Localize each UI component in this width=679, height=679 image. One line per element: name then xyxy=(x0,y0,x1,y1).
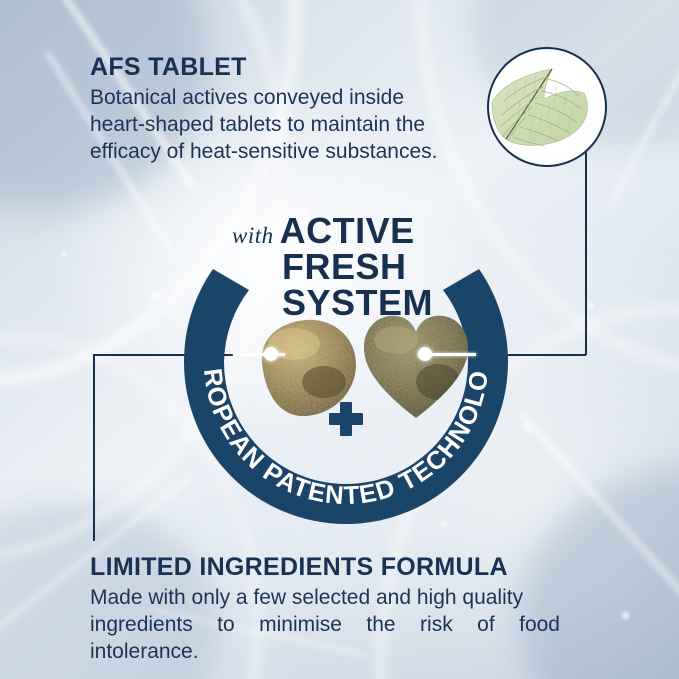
afs-tablet-line-2: heart-shaped tablets to maintain the xyxy=(90,111,440,138)
with-word: with xyxy=(232,223,274,249)
pointer-dot-right xyxy=(418,347,432,361)
infographic-canvas: AFS TABLET Botanical actives conveyed in… xyxy=(0,0,679,679)
heart-shaped-tablet-icon xyxy=(356,306,476,430)
connector-right-vertical xyxy=(585,146,587,355)
limited-ingredients-description: Made with only a few selected and high q… xyxy=(90,584,560,666)
afs-tablet-text-block: AFS TABLET Botanical actives conveyed in… xyxy=(90,54,440,165)
afs-tablet-line-1: Botanical actives conveyed inside xyxy=(90,84,440,111)
active-fresh-system-title: withACTIVE FRESH SYSTEM xyxy=(232,214,472,321)
afs-line-fresh: FRESH xyxy=(232,249,472,285)
pointer-dot-left xyxy=(264,347,278,361)
limited-ingredients-heading: LIMITED INGREDIENTS FORMULA xyxy=(90,554,560,582)
limited-ingredients-text-block: LIMITED INGREDIENTS FORMULA Made with on… xyxy=(90,554,560,665)
afs-tablet-description: Botanical actives conveyed inside heart-… xyxy=(90,84,440,166)
afs-tablet-heading: AFS TABLET xyxy=(90,54,440,82)
limited-ingredients-line-1: Made with only a few selected and high q… xyxy=(90,584,560,611)
leaf-badge xyxy=(487,47,607,167)
afs-line-system: SYSTEM xyxy=(232,285,472,321)
plus-icon xyxy=(329,402,363,436)
leaf-icon xyxy=(487,57,607,157)
afs-tablet-line-3: efficacy of heat-sensitive substances. xyxy=(90,138,440,165)
connector-left-vertical xyxy=(93,354,95,541)
limited-ingredients-line-2: ingredients to minimise the risk of food… xyxy=(90,611,560,666)
afs-line-active: ACTIVE xyxy=(280,214,415,248)
